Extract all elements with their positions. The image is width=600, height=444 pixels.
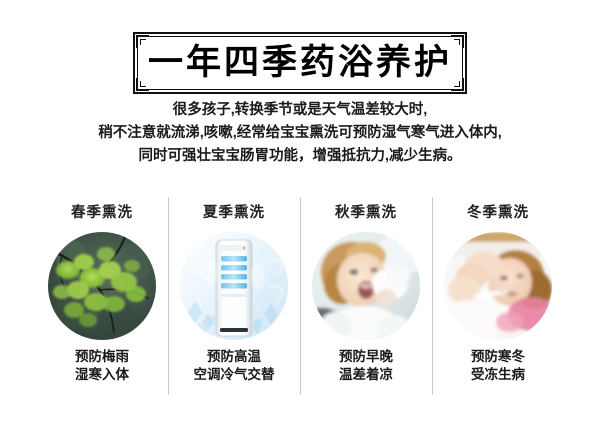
- title-frame-inner-border: 一年四季药浴养护: [137, 36, 463, 90]
- intro-paragraph: 很多孩子,转换季节或是天气温差较大时, 稍不注意就流涕,咳嗽,经常给宝宝熏洗可预…: [0, 99, 600, 168]
- season-caption-winter: 预防寒冬 受冻生病: [471, 348, 525, 384]
- season-heading-summer: 夏季熏洗: [203, 201, 265, 222]
- corner-ornament-bottom-left-icon: [136, 78, 149, 91]
- season-caption-summer-line1: 预防高温: [194, 348, 275, 366]
- winter-sick-child-in-bed-photo: [444, 232, 552, 340]
- season-caption-autumn-line2: 温差着凉: [339, 366, 393, 384]
- poster-root: 一年四季药浴养护 很多孩子,转换季节或是天气温差较大时, 稍不注意就流涕,咳嗽,…: [0, 0, 600, 444]
- autumn-sneezing-child-photo: [312, 232, 420, 340]
- season-caption-autumn: 预防早晚 温差着凉: [339, 348, 393, 384]
- season-column-spring: 春季熏洗: [36, 197, 168, 395]
- summer-air-conditioner-photo: [180, 232, 288, 340]
- corner-ornament-top-right-icon: [451, 35, 464, 48]
- intro-line-1: 很多孩子,转换季节或是天气温差较大时,: [0, 99, 600, 122]
- season-column-winter: 冬季熏洗: [432, 197, 564, 395]
- season-caption-spring-line2: 湿寒入体: [75, 366, 129, 384]
- corner-ornament-top-left-icon: [136, 35, 149, 48]
- season-caption-spring-line1: 预防梅雨: [75, 348, 129, 366]
- page-title: 一年四季药浴养护: [148, 45, 452, 80]
- title-frame: 一年四季药浴养护: [133, 32, 467, 94]
- season-caption-summer-line2: 空调冷气交替: [194, 366, 275, 384]
- season-columns: 春季熏洗: [36, 197, 564, 395]
- season-caption-summer: 预防高温 空调冷气交替: [194, 348, 275, 384]
- season-caption-winter-line2: 受冻生病: [471, 366, 525, 384]
- season-heading-winter: 冬季熏洗: [467, 201, 529, 222]
- intro-line-3: 同时可强壮宝宝肠胃功能，增强抵抗力,减少生病。: [0, 145, 600, 168]
- season-caption-winter-line1: 预防寒冬: [471, 348, 525, 366]
- season-heading-spring: 春季熏洗: [71, 201, 133, 222]
- season-caption-autumn-line1: 预防早晚: [339, 348, 393, 366]
- spring-green-leaves-photo: [48, 232, 156, 340]
- intro-line-2: 稍不注意就流涕,咳嗽,经常给宝宝熏洗可预防湿气寒气进入体内,: [0, 122, 600, 145]
- season-column-autumn: 秋季熏洗: [300, 197, 432, 395]
- season-column-summer: 夏季熏洗: [168, 197, 300, 395]
- season-caption-spring: 预防梅雨 湿寒入体: [75, 348, 129, 384]
- season-heading-autumn: 秋季熏洗: [335, 201, 397, 222]
- corner-ornament-bottom-right-icon: [451, 78, 464, 91]
